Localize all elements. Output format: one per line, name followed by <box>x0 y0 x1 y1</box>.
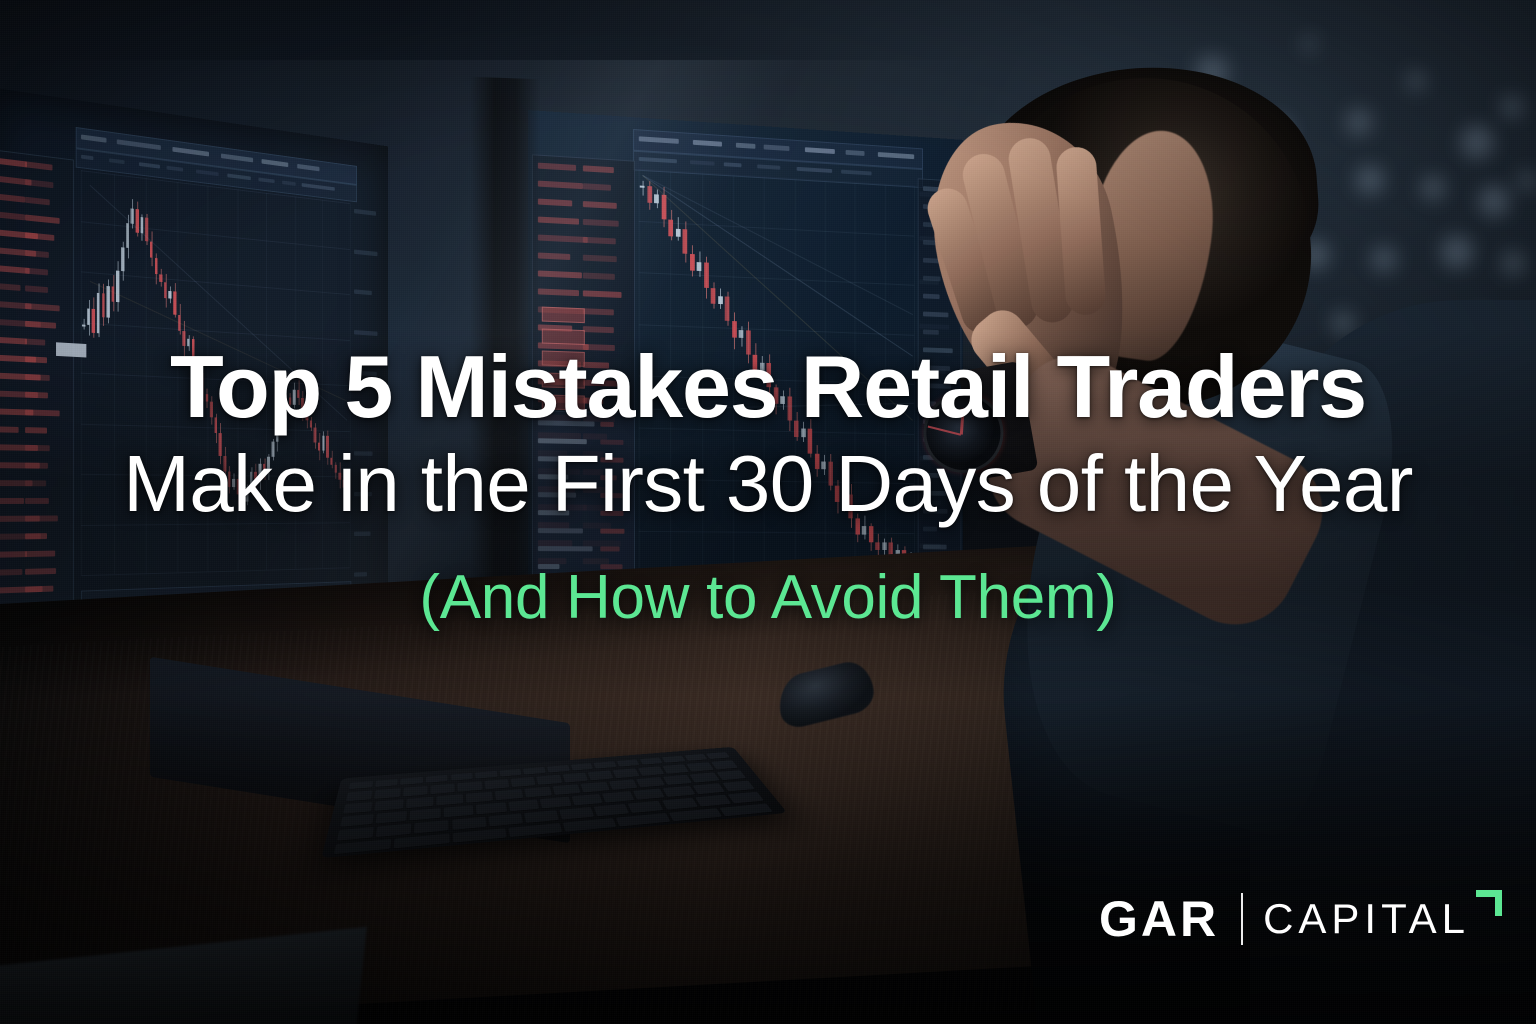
order-book-size <box>25 568 56 575</box>
order-book-size <box>25 392 48 399</box>
logo-divider <box>1241 893 1243 945</box>
candlestick <box>201 378 204 394</box>
chart-gridline-vertical <box>295 196 296 569</box>
position-row <box>538 438 587 444</box>
keyboard-key <box>375 779 398 787</box>
order-book-size <box>25 427 47 433</box>
chart-gridline <box>81 322 350 341</box>
position-pnl <box>600 440 623 445</box>
candlestick <box>676 229 681 237</box>
candlestick <box>310 420 313 427</box>
keyboard-key <box>628 801 664 813</box>
order-book-size <box>25 586 53 593</box>
watch-hand-hour <box>960 409 965 435</box>
price-axis-label <box>354 370 377 375</box>
candlestick <box>318 443 321 450</box>
keyboard-key <box>430 784 454 795</box>
chart-gridline <box>81 271 350 295</box>
candlestick <box>210 402 213 418</box>
keyboard-key <box>406 797 434 809</box>
candlestick <box>781 396 785 404</box>
keyboard-key <box>426 775 448 783</box>
candlestick <box>259 464 262 479</box>
keyboard-key <box>663 786 695 797</box>
candlestick <box>739 330 743 338</box>
order-book-size <box>25 356 47 363</box>
order-book-size <box>25 409 60 416</box>
candlestick <box>690 254 695 271</box>
keyboard-key <box>340 814 373 827</box>
candlestick <box>254 472 257 480</box>
keyboard-key <box>695 795 731 807</box>
chart-gridline-vertical <box>350 203 351 567</box>
candlestick <box>849 494 853 518</box>
position-pnl <box>600 475 616 480</box>
keyboard-key <box>639 758 662 765</box>
watch-hand-minute <box>928 426 961 436</box>
candlestick <box>725 296 729 321</box>
order-book-price <box>0 426 19 433</box>
keyboard-key <box>722 781 755 792</box>
alert-chip <box>542 350 585 366</box>
order-book-size <box>583 344 615 351</box>
price-axis-label <box>354 532 370 537</box>
keyboard-key <box>524 787 552 798</box>
keyboard-key <box>594 804 629 816</box>
candlestick <box>753 355 757 371</box>
alert-chip <box>542 307 585 324</box>
keyboard-key <box>668 808 722 821</box>
keyboard-key <box>602 791 634 802</box>
candlestick <box>794 421 798 437</box>
keyboard-key <box>409 808 440 820</box>
keyboard-key <box>452 828 506 842</box>
candlestick <box>683 229 688 254</box>
keyboard-key <box>524 810 559 823</box>
chart-gridline-vertical <box>177 182 178 572</box>
position-row <box>538 564 560 569</box>
keyboard-key <box>488 813 523 826</box>
candlestick <box>808 429 812 453</box>
keyboard-key <box>617 759 640 766</box>
candlestick <box>305 413 308 420</box>
chart-gridline-vertical <box>208 186 209 572</box>
keyboard-key <box>451 773 473 781</box>
keyboard-key <box>638 766 664 776</box>
candlestick <box>272 442 275 457</box>
candlestick <box>237 479 240 494</box>
keyboard-key <box>687 762 714 771</box>
keyboard-key <box>547 765 570 773</box>
keyboard-key <box>690 772 720 782</box>
candlestick <box>159 274 162 282</box>
keyboard-key <box>711 760 738 769</box>
candlestick <box>767 363 771 387</box>
keyboard-key <box>594 761 617 768</box>
position-row <box>538 528 583 533</box>
keyboard-key <box>523 767 546 775</box>
candlestick <box>126 223 129 247</box>
price-axis-label <box>354 572 367 577</box>
keyboard-key <box>636 777 665 787</box>
candlestick <box>241 494 244 502</box>
chart-gridline-vertical <box>81 170 82 575</box>
alert-chip <box>542 394 585 410</box>
order-book-size <box>25 374 50 381</box>
candlestick <box>647 186 652 203</box>
position-pnl <box>600 546 619 551</box>
chart-gridline-vertical <box>237 189 238 570</box>
trader <box>860 0 1536 1024</box>
candlestick <box>787 396 791 420</box>
candlestick <box>245 487 248 502</box>
order-book-size <box>25 533 47 539</box>
candlestick <box>801 429 805 437</box>
candlestick <box>232 479 235 487</box>
candlestick <box>267 457 270 472</box>
keyboard-key <box>375 799 404 811</box>
candlestick <box>219 433 222 456</box>
keyboard-key <box>400 777 423 785</box>
candlestick <box>169 291 172 299</box>
alert-chip <box>542 329 585 345</box>
order-book-size <box>583 362 609 369</box>
keyboard-key <box>537 775 562 785</box>
position-row <box>538 510 569 515</box>
keyboard-key <box>662 764 689 774</box>
candlestick <box>150 242 153 258</box>
keyboard-key <box>337 827 374 841</box>
candlestick <box>301 398 304 413</box>
keyboard-key <box>613 768 639 778</box>
candlestick <box>92 309 95 333</box>
alert-chip <box>542 372 585 388</box>
position-row <box>538 492 576 497</box>
price-axis-label <box>354 330 377 336</box>
order-book-size <box>25 516 58 522</box>
candlestick <box>289 397 292 405</box>
keyboard-key <box>616 813 670 826</box>
candlestick <box>835 486 839 502</box>
price-axis-label <box>354 249 377 256</box>
order-book-price <box>0 569 22 576</box>
chart-gridline-vertical <box>639 169 640 582</box>
candlestick <box>338 473 341 480</box>
order-book-size <box>25 551 55 557</box>
chart-gridline-vertical <box>702 173 703 582</box>
poster-canvas: Top 5 Mistakes Retail Traders Make in th… <box>0 0 1536 1024</box>
corner-bracket-vertical <box>1495 890 1502 916</box>
candlestick <box>330 458 333 465</box>
position-row <box>538 456 584 462</box>
order-book-size <box>25 445 50 451</box>
candlestick <box>196 363 199 379</box>
keyboard-key <box>559 807 594 820</box>
chart-gridline <box>81 522 350 526</box>
keyboard-key <box>375 811 407 824</box>
order-book-size <box>25 339 45 346</box>
order-book-size <box>583 398 603 404</box>
order-book-size <box>25 463 48 469</box>
price-axis-label <box>354 492 372 496</box>
candlestick <box>347 487 350 494</box>
order-book-size <box>25 498 49 504</box>
price-axis-label <box>354 451 372 456</box>
candlestick <box>263 464 266 472</box>
candlestick <box>183 331 186 347</box>
candlestick <box>322 436 325 451</box>
keyboard-key <box>588 770 614 780</box>
order-book-size <box>583 380 619 387</box>
keyboard-key <box>719 803 772 816</box>
keyboard-key <box>684 754 707 761</box>
chart-gridline-vertical <box>266 193 267 570</box>
candlestick <box>746 330 750 355</box>
keyboard-key <box>414 820 449 833</box>
candlestick <box>326 436 329 458</box>
candlestick <box>250 472 253 487</box>
keyboard-key <box>716 770 746 780</box>
keyboard-key <box>663 775 692 785</box>
candlestick <box>314 428 317 443</box>
keyboard-key <box>563 818 617 832</box>
candlestick <box>87 308 90 324</box>
order-book-price <box>0 498 24 504</box>
candlestick <box>82 324 85 326</box>
candlestick <box>116 270 119 302</box>
trendline <box>90 185 348 421</box>
candlestick <box>223 456 226 471</box>
candlestick <box>640 185 645 187</box>
candlestick <box>842 494 846 502</box>
keyboard-key <box>562 773 588 783</box>
candlestick <box>774 388 778 404</box>
keyboard-key <box>443 805 473 817</box>
keyboard-key <box>394 834 449 849</box>
keyboard-key <box>706 752 730 759</box>
order-book-size <box>25 480 46 486</box>
candlestick <box>276 427 279 442</box>
chart-gridline <box>81 474 350 477</box>
candlestick <box>342 480 345 487</box>
position-row <box>538 474 568 479</box>
keyboard-key <box>475 771 497 779</box>
candlestick <box>205 394 208 402</box>
candlestick <box>661 195 666 220</box>
keyboard-key <box>540 797 571 809</box>
candlestick <box>760 363 764 371</box>
keyboard-key <box>436 794 463 805</box>
candlestick <box>97 293 100 333</box>
candlestick <box>697 262 702 270</box>
keyboard-key <box>571 794 603 806</box>
keyboard-key <box>374 788 400 799</box>
position-row <box>538 546 593 551</box>
keyboard-key <box>633 788 665 799</box>
position-pnl <box>600 511 623 516</box>
candlestick <box>192 339 195 362</box>
keyboard-key <box>693 783 726 794</box>
candle-wick <box>642 181 643 195</box>
price-axis-label <box>354 290 372 296</box>
corner-bracket-icon <box>1476 890 1502 916</box>
keyboard-key <box>581 782 610 793</box>
candlestick <box>102 293 105 317</box>
candlestick <box>187 339 190 347</box>
keyboard-key <box>553 784 581 795</box>
candlestick <box>334 465 337 472</box>
candlestick <box>228 471 231 486</box>
logo-gar-text: GAR <box>1099 894 1219 944</box>
candlestick <box>111 286 114 302</box>
candlestick <box>654 194 659 202</box>
candlestick <box>121 247 124 271</box>
keyboard-key <box>495 789 523 800</box>
candlestick <box>173 291 176 315</box>
price-axis-label <box>354 411 378 416</box>
keyboard-key <box>609 779 638 790</box>
keyboard-key <box>662 756 685 763</box>
keyboard-key <box>376 823 412 837</box>
keyboard-key <box>511 777 536 787</box>
chart-gridline-vertical <box>114 174 115 574</box>
order-book-price <box>0 551 27 558</box>
candlestick <box>155 258 158 274</box>
keyboard-key <box>349 781 373 789</box>
price-axis-label <box>354 209 376 216</box>
chart-gridline-vertical <box>825 180 826 582</box>
keyboard-key <box>570 763 593 770</box>
chart-gridline-vertical <box>323 200 324 568</box>
keyboard-key <box>334 839 392 854</box>
keyboard-key <box>452 817 486 830</box>
candlestick <box>732 321 736 337</box>
keyboard-key <box>484 779 509 789</box>
candlestick <box>280 412 283 427</box>
chart-gridline <box>81 221 350 250</box>
candlestick <box>822 462 826 470</box>
candlestick <box>164 282 167 298</box>
order-book-size <box>583 326 614 333</box>
keyboard-key <box>343 802 373 814</box>
keyboard-key <box>499 769 521 777</box>
brand-logo: GAR CAPITAL <box>1099 892 1502 946</box>
candlestick <box>718 296 722 304</box>
keyboard-key <box>508 823 562 837</box>
chart-gridline <box>81 567 350 576</box>
logo-capital-text: CAPITAL <box>1263 898 1470 940</box>
candlestick <box>293 390 296 405</box>
price-tag <box>56 342 86 357</box>
candlestick <box>669 220 674 237</box>
candlestick <box>711 288 715 305</box>
position-pnl <box>600 422 614 427</box>
candlestick <box>815 453 819 469</box>
candlestick <box>297 390 300 398</box>
candlestick <box>828 462 832 486</box>
keyboard-key <box>458 781 483 792</box>
candlestick <box>284 397 287 412</box>
keyboard-key <box>508 799 539 811</box>
keyboard-key <box>728 792 764 804</box>
position-pnl <box>600 457 623 462</box>
keyboard-key <box>403 786 428 797</box>
keyboard-key <box>662 798 698 810</box>
chart-gridline-vertical <box>795 178 796 582</box>
keyboard-key <box>466 792 493 803</box>
position-pnl <box>600 529 624 534</box>
order-book-size <box>583 308 614 315</box>
keyboard-key <box>476 802 507 814</box>
trendline <box>90 281 347 402</box>
candlestick <box>214 417 217 432</box>
keyboard-key <box>346 790 373 801</box>
position-pnl <box>600 493 622 498</box>
candlestick <box>704 263 708 288</box>
